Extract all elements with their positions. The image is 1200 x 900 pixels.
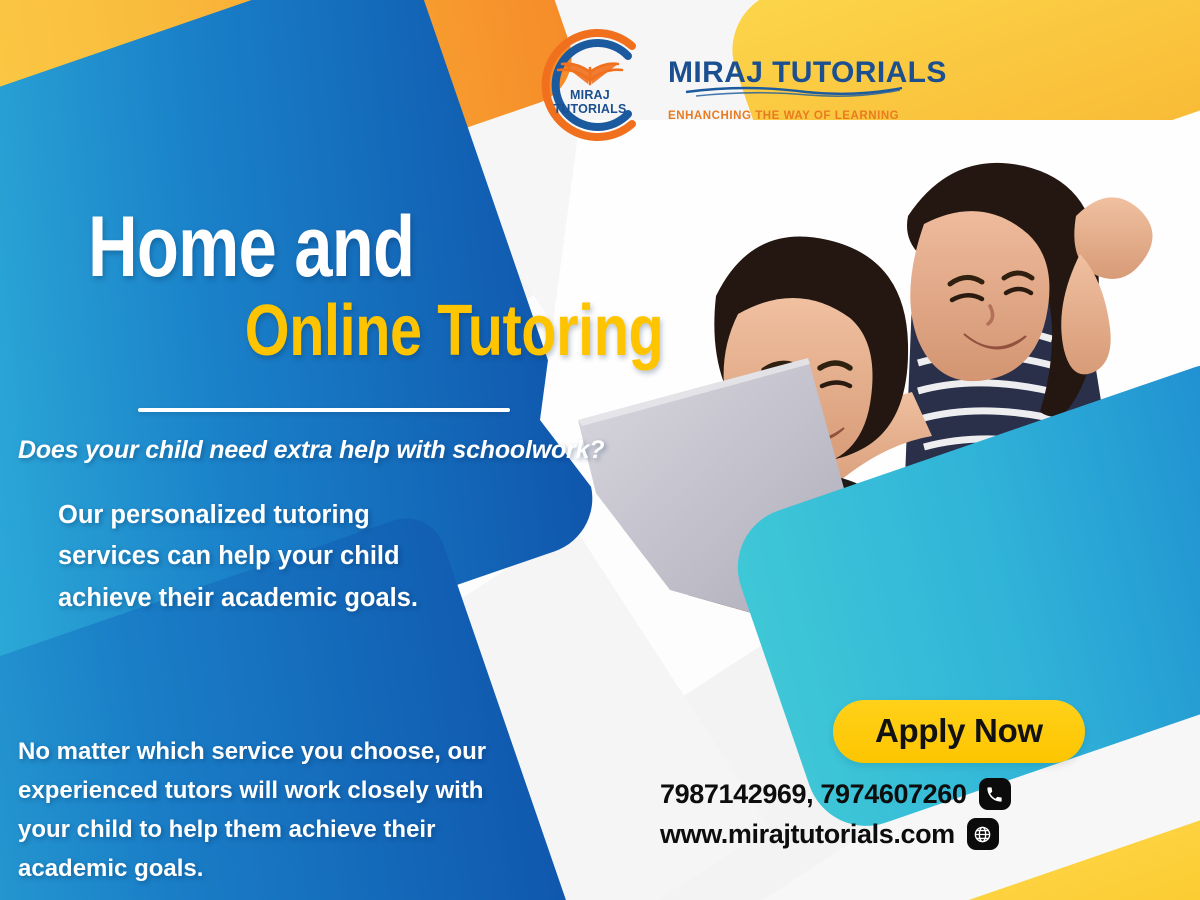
logo-mark-icon: MIRAJ TUTORIALS	[520, 22, 660, 148]
globe-icon	[967, 818, 999, 850]
pitch-paragraph: Our personalized tutoring services can h…	[58, 495, 478, 619]
logo-inner-label: MIRAJ TUTORIALS	[538, 88, 642, 116]
brand-logo[interactable]: MIRAJ TUTORIALS MIRAJ TUTORIALS ENHANCHI…	[520, 22, 920, 148]
phone-numbers: 7987142969, 7974607260	[660, 779, 967, 810]
website-contact-row[interactable]: www.mirajtutorials.com	[660, 818, 999, 850]
closing-paragraph: No matter which service you choose, our …	[18, 733, 488, 889]
poster-canvas: MIRAJ TUTORIALS MIRAJ TUTORIALS ENHANCHI…	[0, 0, 1200, 900]
phone-contact-row[interactable]: 7987142969, 7974607260	[660, 778, 1011, 810]
apply-now-button[interactable]: Apply Now	[833, 700, 1085, 763]
brand-tagline: ENHANCHING THE WAY OF LEARNING	[668, 110, 918, 122]
phone-icon	[979, 778, 1011, 810]
lead-question: Does your child need extra help with sch…	[18, 436, 638, 465]
headline-line-1: Home and	[88, 205, 504, 289]
headline-line-2: Online Tutoring	[88, 295, 504, 367]
brand-name: MIRAJ TUTORIALS	[668, 58, 918, 88]
brand-wordmark: MIRAJ TUTORIALS ENHANCHING THE WAY OF LE…	[668, 58, 918, 122]
website-url: www.mirajtutorials.com	[660, 819, 955, 850]
headline-divider	[138, 408, 510, 412]
headline-block: Home and Online Tutoring	[88, 205, 608, 367]
